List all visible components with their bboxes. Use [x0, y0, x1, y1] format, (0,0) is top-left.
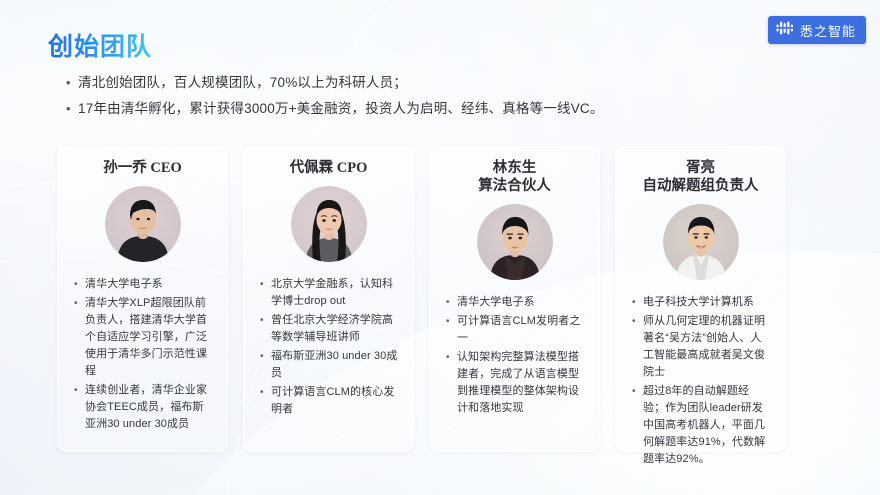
bullet-dot-icon: •	[446, 313, 457, 330]
founder-name: 代佩霖 CPO	[290, 159, 368, 177]
bullet-dot-icon: •	[74, 276, 85, 293]
bullet-dot-icon: •	[74, 382, 85, 399]
bullet-dot-icon: •	[66, 96, 78, 122]
intro-bullet-item: • 17年由清华孵化，累计获得3000万+美金融资，投资人为启明、经纬、真格等一…	[66, 96, 826, 122]
bullet-dot-icon: •	[446, 294, 457, 311]
founder-bullet-text: 超过8年的自动解题经验；作为团队leader研发中国高考机器人，平面几何解题率达…	[643, 383, 771, 468]
founder-bullet: • 连续创业者，清华企业家协会TEEC成员，福布斯亚洲30 under 30成员	[74, 382, 213, 433]
founder-bullets: • 北京大学金融系，认知科学博士drop out • 曾任北京大学经济学院高等数…	[254, 276, 403, 420]
founder-bullet: • 清华大学XLP超限团队前负责人，搭建清华大学首个自适应学习引擎，广泛使用于清…	[74, 295, 213, 380]
bullet-dot-icon: •	[74, 295, 85, 312]
founder-bullet-text: 师从几何定理的机器证明著名“吴方法”创始人、人工智能最高成就者吴文俊院士	[643, 313, 771, 381]
founder-bullet: • 电子科技大学计算机系	[632, 294, 771, 311]
bullet-dot-icon: •	[260, 276, 271, 293]
founder-card-row: 孙一乔 CEO	[57, 146, 829, 452]
founder-bullet-text: 福布斯亚洲30 under 30成员	[271, 348, 399, 382]
bullet-dot-icon: •	[260, 384, 271, 401]
founder-name: 林东生 算法合伙人	[478, 159, 551, 195]
founder-bullet: • 清华大学电子系	[446, 294, 585, 311]
founder-bullet-text: 清华大学XLP超限团队前负责人，搭建清华大学首个自适应学习引擎，广泛使用于清华多…	[85, 295, 213, 380]
founder-bullets: • 清华大学电子系 • 清华大学XLP超限团队前负责人，搭建清华大学首个自适应学…	[68, 276, 217, 435]
founder-bullet-text: 清华大学电子系	[457, 294, 585, 311]
bullet-dot-icon: •	[66, 70, 78, 96]
intro-bullet-text: 清北创始团队，百人规模团队，70%以上为科研人员；	[78, 70, 407, 96]
founder-card[interactable]: 胥亮 自动解题组负责人	[615, 146, 786, 452]
avatar	[477, 204, 553, 280]
founder-bullet-text: 可计算语言CLM发明者之一	[457, 313, 585, 347]
founder-bullet: • 福布斯亚洲30 under 30成员	[260, 348, 399, 382]
bullet-dot-icon: •	[632, 313, 643, 330]
founder-bullet: • 师从几何定理的机器证明著名“吴方法”创始人、人工智能最高成就者吴文俊院士	[632, 313, 771, 381]
founder-bullet-text: 电子科技大学计算机系	[643, 294, 771, 311]
founder-bullet-text: 北京大学金融系，认知科学博士drop out	[271, 276, 399, 310]
bullet-dot-icon: •	[446, 349, 457, 366]
avatar	[291, 186, 367, 262]
brand-logo-text: 悉之智能	[800, 21, 856, 40]
founder-bullet: • 认知架构完整算法模型搭建者，完成了从语言模型到推理模型的整体架构设计和落地实…	[446, 349, 585, 417]
intro-bullet-item: • 清北创始团队，百人规模团队，70%以上为科研人员；	[66, 70, 826, 96]
founder-card[interactable]: 林东生 算法合伙人	[429, 146, 600, 452]
founder-bullet-text: 清华大学电子系	[85, 276, 213, 293]
founder-bullet: • 可计算语言CLM的核心发明者	[260, 384, 399, 418]
founder-bullet: • 超过8年的自动解题经验；作为团队leader研发中国高考机器人，平面几何解题…	[632, 383, 771, 468]
founder-name: 胥亮 自动解题组负责人	[643, 159, 759, 195]
founder-card[interactable]: 孙一乔 CEO	[57, 146, 228, 452]
founder-bullet-text: 认知架构完整算法模型搭建者，完成了从语言模型到推理模型的整体架构设计和落地实现	[457, 349, 585, 417]
page-title: 创始团队	[48, 27, 152, 63]
bullet-dot-icon: •	[632, 383, 643, 400]
founder-bullet: • 清华大学电子系	[74, 276, 213, 293]
avatar	[663, 204, 739, 280]
brand-logo[interactable]: 悉之智能	[768, 16, 866, 44]
founder-card[interactable]: 代佩霖 CPO	[243, 146, 414, 452]
intro-bullet-list: • 清北创始团队，百人规模团队，70%以上为科研人员； • 17年由清华孵化，累…	[66, 70, 826, 122]
bars-logo-icon	[776, 20, 794, 41]
founder-name: 孙一乔 CEO	[103, 159, 182, 177]
founder-bullet: • 曾任北京大学经济学院高等数学辅导班讲师	[260, 312, 399, 346]
founder-bullets: • 清华大学电子系 • 可计算语言CLM发明者之一 • 认知架构完整算法模型搭建…	[440, 294, 589, 419]
founder-bullets: • 电子科技大学计算机系 • 师从几何定理的机器证明著名“吴方法”创始人、人工智…	[626, 294, 775, 470]
founder-bullet-text: 可计算语言CLM的核心发明者	[271, 384, 399, 418]
bullet-dot-icon: •	[260, 312, 271, 329]
founder-bullet-text: 连续创业者，清华企业家协会TEEC成员，福布斯亚洲30 under 30成员	[85, 382, 213, 433]
founder-bullet: • 可计算语言CLM发明者之一	[446, 313, 585, 347]
bullet-dot-icon: •	[632, 294, 643, 311]
founder-bullet: • 北京大学金融系，认知科学博士drop out	[260, 276, 399, 310]
founder-bullet-text: 曾任北京大学经济学院高等数学辅导班讲师	[271, 312, 399, 346]
bullet-dot-icon: •	[260, 348, 271, 365]
slide-canvas: 悉之智能 创始团队 • 清北创始团队，百人规模团队，70%以上为科研人员； • …	[0, 0, 880, 495]
intro-bullet-text: 17年由清华孵化，累计获得3000万+美金融资，投资人为启明、经纬、真格等一线V…	[78, 96, 604, 122]
avatar	[105, 186, 181, 262]
